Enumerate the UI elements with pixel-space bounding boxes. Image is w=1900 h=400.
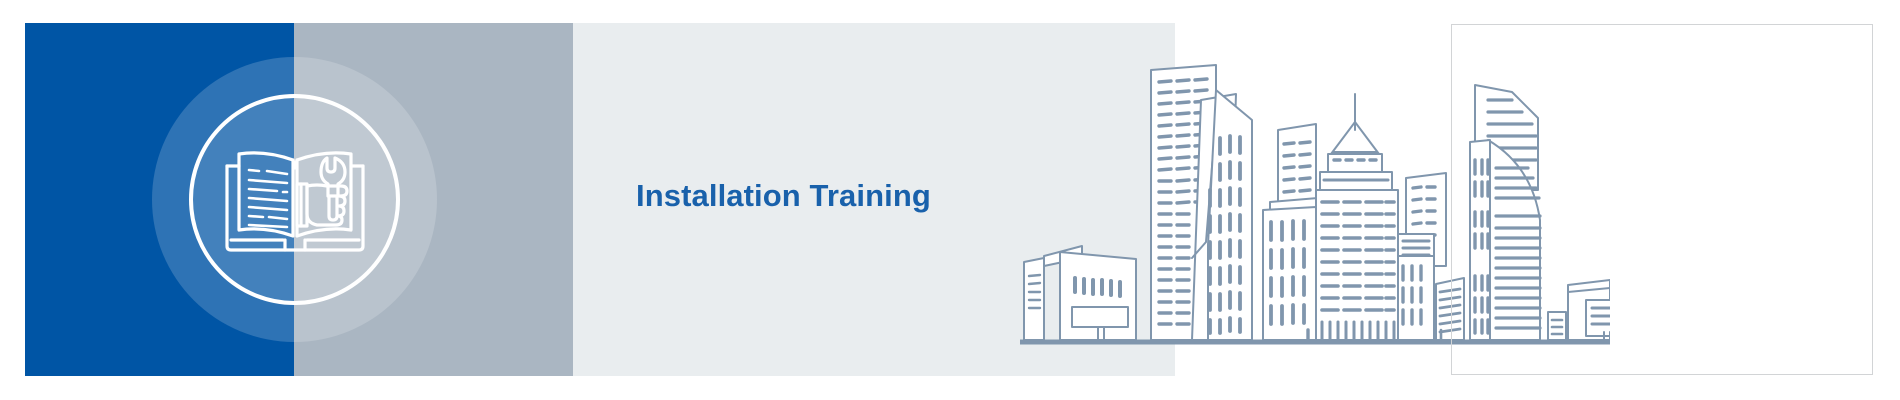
city-skyline-illustration [1020, 30, 1610, 350]
page-title: Installation Training [636, 178, 931, 214]
open-book-with-hand-holding-wrench-icon [205, 110, 385, 290]
installation-training-banner: Installation Training [0, 0, 1900, 400]
